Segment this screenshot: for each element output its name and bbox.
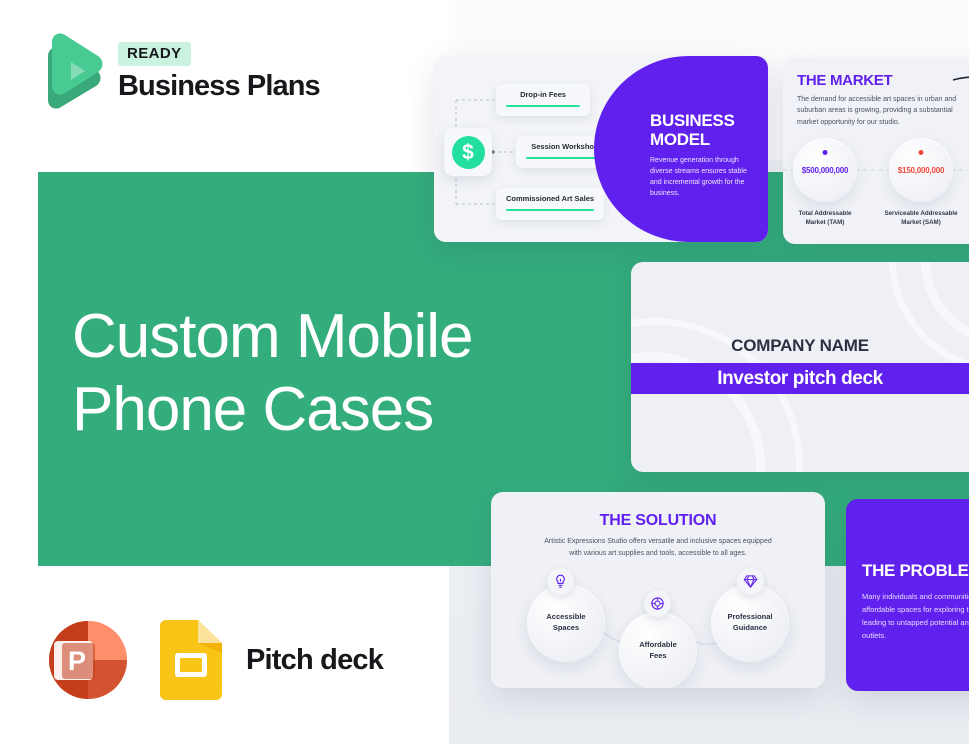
solution-node-label: Affordable Fees bbox=[639, 640, 677, 662]
sam-value: $150,000,000 bbox=[898, 166, 945, 175]
tam-caption-line-1: Total Addressable bbox=[783, 210, 873, 219]
solution-node-label: Professional Guidance bbox=[727, 612, 772, 634]
tam-caption: Total Addressable Market (TAM) bbox=[783, 210, 873, 228]
solution-node-accessible-spaces[interactable]: Accessible Spaces bbox=[527, 584, 605, 662]
tam-dot-icon bbox=[823, 150, 828, 155]
node-label-line-2: Fees bbox=[649, 651, 666, 660]
sam-caption: Serviceable Addressable Market (SAM) bbox=[873, 210, 969, 228]
bm-title-line-1: BUSINESS bbox=[650, 111, 758, 130]
sam-caption-line-1: Serviceable Addressable bbox=[873, 210, 969, 219]
sam-caption-line-2: Market (SAM) bbox=[873, 219, 969, 228]
powerpoint-icon: P bbox=[40, 617, 136, 703]
node-label-line-2: Guidance bbox=[733, 623, 767, 632]
lightbulb-icon bbox=[547, 568, 574, 595]
page-title-line-1: Custom Mobile bbox=[72, 300, 542, 373]
node-label-line-1: Accessible bbox=[546, 612, 585, 621]
bm-title-line-2: MODEL bbox=[650, 130, 758, 149]
problem-decorative-curve bbox=[846, 499, 969, 691]
format-row: P Pitch deck bbox=[40, 617, 383, 703]
bm-item-label: Drop-in Fees bbox=[506, 90, 580, 99]
solution-node-label: Accessible Spaces bbox=[546, 612, 585, 634]
bm-description: Revenue generation through diverse strea… bbox=[650, 156, 758, 199]
slide-the-problem[interactable]: THE PROBLEM Many individuals and communi… bbox=[846, 499, 969, 691]
node-label-line-1: Affordable bbox=[639, 640, 677, 649]
slide-the-market[interactable]: THE MARKET The demand for accessible art… bbox=[783, 58, 969, 244]
play-triangle-logo-icon bbox=[38, 32, 104, 112]
tam-caption-line-2: Market (TAM) bbox=[783, 219, 873, 228]
diamond-icon bbox=[737, 568, 764, 595]
dollar-sign-icon: $ bbox=[452, 136, 485, 169]
market-metric-sam: $150,000,000 bbox=[889, 138, 953, 202]
slide-business-model[interactable]: $ Drop-in Fees Session Workshops Commiss… bbox=[434, 56, 768, 242]
brand-text-block: READY Business Plans bbox=[118, 42, 320, 103]
page-title: Custom Mobile Phone Cases bbox=[72, 300, 542, 446]
market-metric-tam: $500,000,000 bbox=[793, 138, 857, 202]
company-name-title: Investor pitch deck bbox=[631, 368, 969, 390]
solution-node-professional-guidance[interactable]: Professional Guidance bbox=[711, 584, 789, 662]
brand-logo[interactable]: READY Business Plans bbox=[38, 32, 320, 112]
format-label: Pitch deck bbox=[246, 644, 383, 677]
brand-name: Business Plans bbox=[118, 70, 320, 103]
bm-money-box: $ bbox=[444, 128, 492, 176]
company-name-subtitle: COMPANY NAME bbox=[631, 336, 969, 356]
company-name-bar: Investor pitch deck bbox=[631, 363, 969, 394]
page-title-line-2: Phone Cases bbox=[72, 373, 542, 446]
poster-canvas: READY Business Plans Custom Mobile Phone… bbox=[0, 0, 969, 744]
bm-item-drop-in-fees[interactable]: Drop-in Fees bbox=[496, 84, 590, 116]
target-icon bbox=[644, 590, 671, 617]
bm-text-block: BUSINESS MODEL Revenue generation throug… bbox=[650, 111, 758, 199]
bm-item-label: Commissioned Art Sales bbox=[506, 194, 594, 203]
tam-value: $500,000,000 bbox=[802, 166, 849, 175]
google-slides-icon bbox=[160, 620, 222, 700]
solution-node-affordable-fees[interactable]: Affordable Fees bbox=[619, 612, 697, 688]
slide-company-name[interactable]: COMPANY NAME Investor pitch deck bbox=[631, 262, 969, 472]
node-label-line-1: Professional bbox=[727, 612, 772, 621]
svg-text:P: P bbox=[68, 646, 86, 676]
ready-badge: READY bbox=[118, 42, 191, 66]
sam-dot-icon bbox=[919, 150, 924, 155]
bm-item-commissioned-art-sales[interactable]: Commissioned Art Sales bbox=[496, 188, 604, 220]
node-label-line-2: Spaces bbox=[553, 623, 579, 632]
slide-the-solution[interactable]: THE SOLUTION Artistic Expressions Studio… bbox=[491, 492, 825, 688]
